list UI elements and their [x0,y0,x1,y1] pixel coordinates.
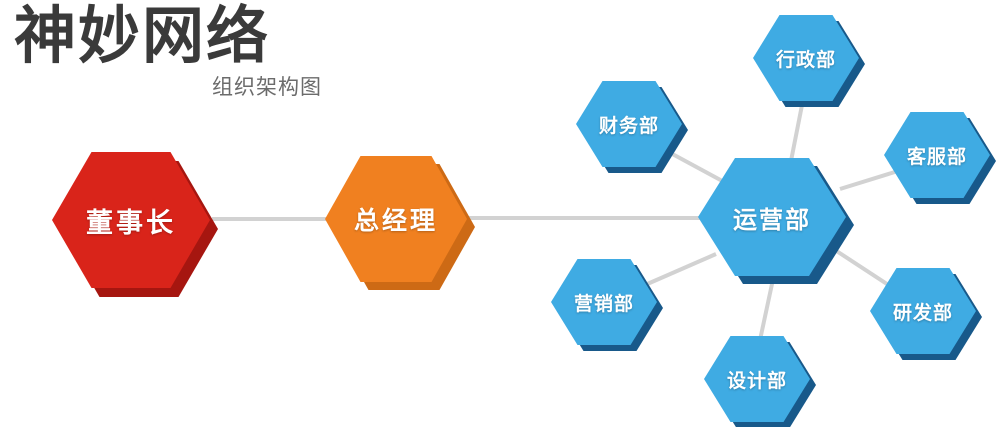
org-chart-canvas: 神妙网络 组织架构图 董事长总经理运营部财务部行政部客服部研发部设计部营销部 [0,0,1002,427]
connector-ops-admin [790,100,803,166]
node-label: 总经理 [325,156,467,282]
node-admin[interactable]: 行政部 [753,15,859,101]
node-rnd[interactable]: 研发部 [870,268,976,354]
node-finance[interactable]: 财务部 [576,81,682,167]
page-title: 神妙网络 [14,2,270,70]
node-label: 客服部 [884,112,990,198]
node-label: 研发部 [870,268,976,354]
node-marketing[interactable]: 营销部 [551,259,657,345]
page-subtitle: 组织架构图 [0,74,322,100]
node-label: 财务部 [576,81,682,167]
node-label: 设计部 [704,336,810,422]
node-label: 董事长 [52,152,210,288]
node-label: 行政部 [753,15,859,101]
node-service[interactable]: 客服部 [884,112,990,198]
node-label: 运营部 [698,158,846,276]
node-chairman[interactable]: 董事长 [52,152,210,288]
header: 神妙网络 组织架构图 [0,0,360,115]
node-gm[interactable]: 总经理 [325,156,467,282]
node-label: 营销部 [551,259,657,345]
node-ops[interactable]: 运营部 [698,158,846,276]
node-design[interactable]: 设计部 [704,336,810,422]
